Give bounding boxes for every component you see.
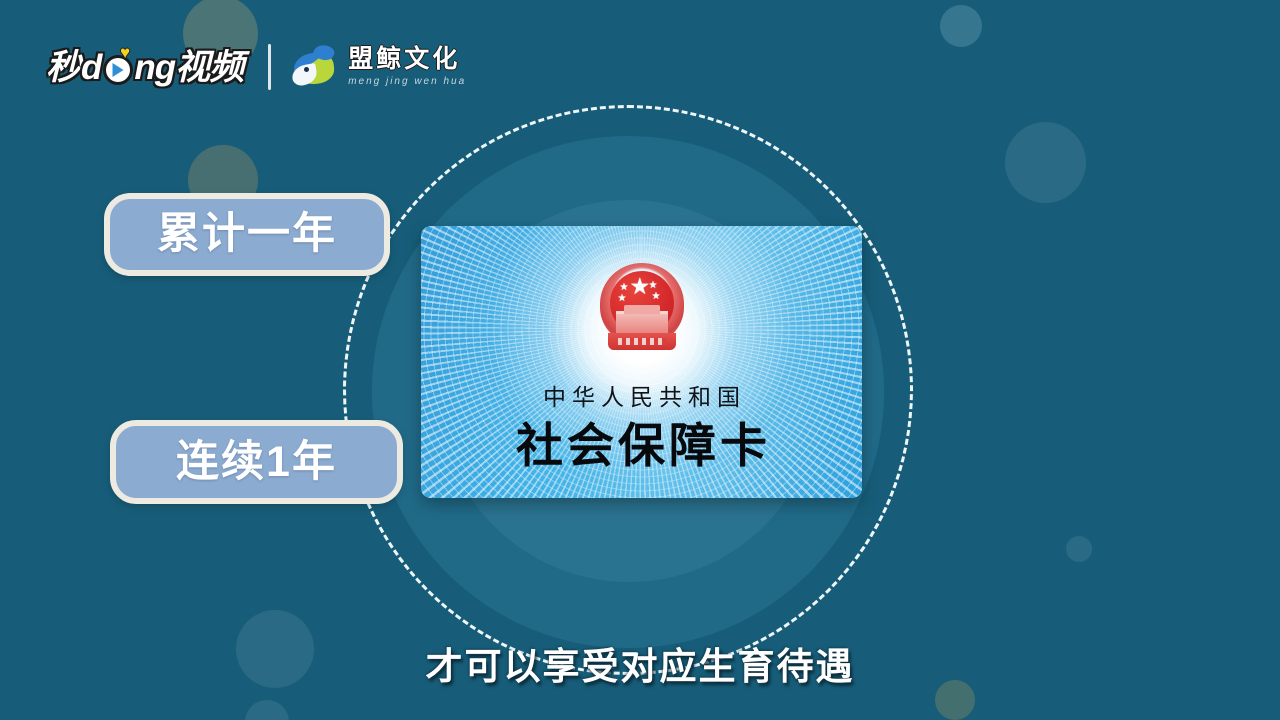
national-emblem-icon: ★ ★ ★ ★ ★ [596,259,688,363]
subtitle-caption: 才可以享受对应生育待遇 [0,636,1280,690]
emblem-star-small: ★ [620,283,629,293]
partner-text-block: 盟鲸文化 meng jing wen hua [348,47,466,87]
emblem-star-small: ★ [652,292,661,302]
emblem-star-small: ★ [618,294,627,304]
badge-cumulative-year[interactable]: 累计一年 [104,193,390,276]
heart-icon: ♥ [120,44,129,61]
background-circle [1066,536,1092,562]
emblem-star-small: ★ [649,281,658,291]
partner-name-cn: 盟鲸文化 [348,47,466,72]
background-circle [245,700,289,720]
logo-text-miao: 秒 [46,50,80,85]
logo-text-d: d [81,50,101,85]
background-circle [940,5,982,47]
card-title: 社会保障卡 [421,407,862,476]
play-triangle-icon [113,63,124,77]
background-circle [1005,122,1086,203]
emblem-base [608,333,676,350]
badge-continuous-year[interactable]: 连续1年 [110,420,403,504]
social-security-card: ★ ★ ★ ★ ★ 中华人民共和国 社会保障卡 [421,226,862,498]
badge-label: 连续1年 [176,441,337,484]
badge-label: 累计一年 [157,213,337,256]
brand-divider [268,44,271,90]
emblem-star-large: ★ [630,275,651,298]
miaodong-logo: 秒 d ng 视频 ♥ [46,50,243,85]
video-frame: 秒 d ng 视频 ♥ 盟鲸文化 meng jing wen hua 累计 [0,0,1280,720]
logo-text-ng: ng [134,50,175,85]
partner-name-en: meng jing wen hua [348,77,466,87]
whale-icon [292,45,338,89]
partner-logo: 盟鲸文化 meng jing wen hua [292,45,466,89]
brand-header: 秒 d ng 视频 ♥ 盟鲸文化 meng jing wen hua [46,38,466,96]
logo-text-shipin: 视频 [175,50,243,85]
